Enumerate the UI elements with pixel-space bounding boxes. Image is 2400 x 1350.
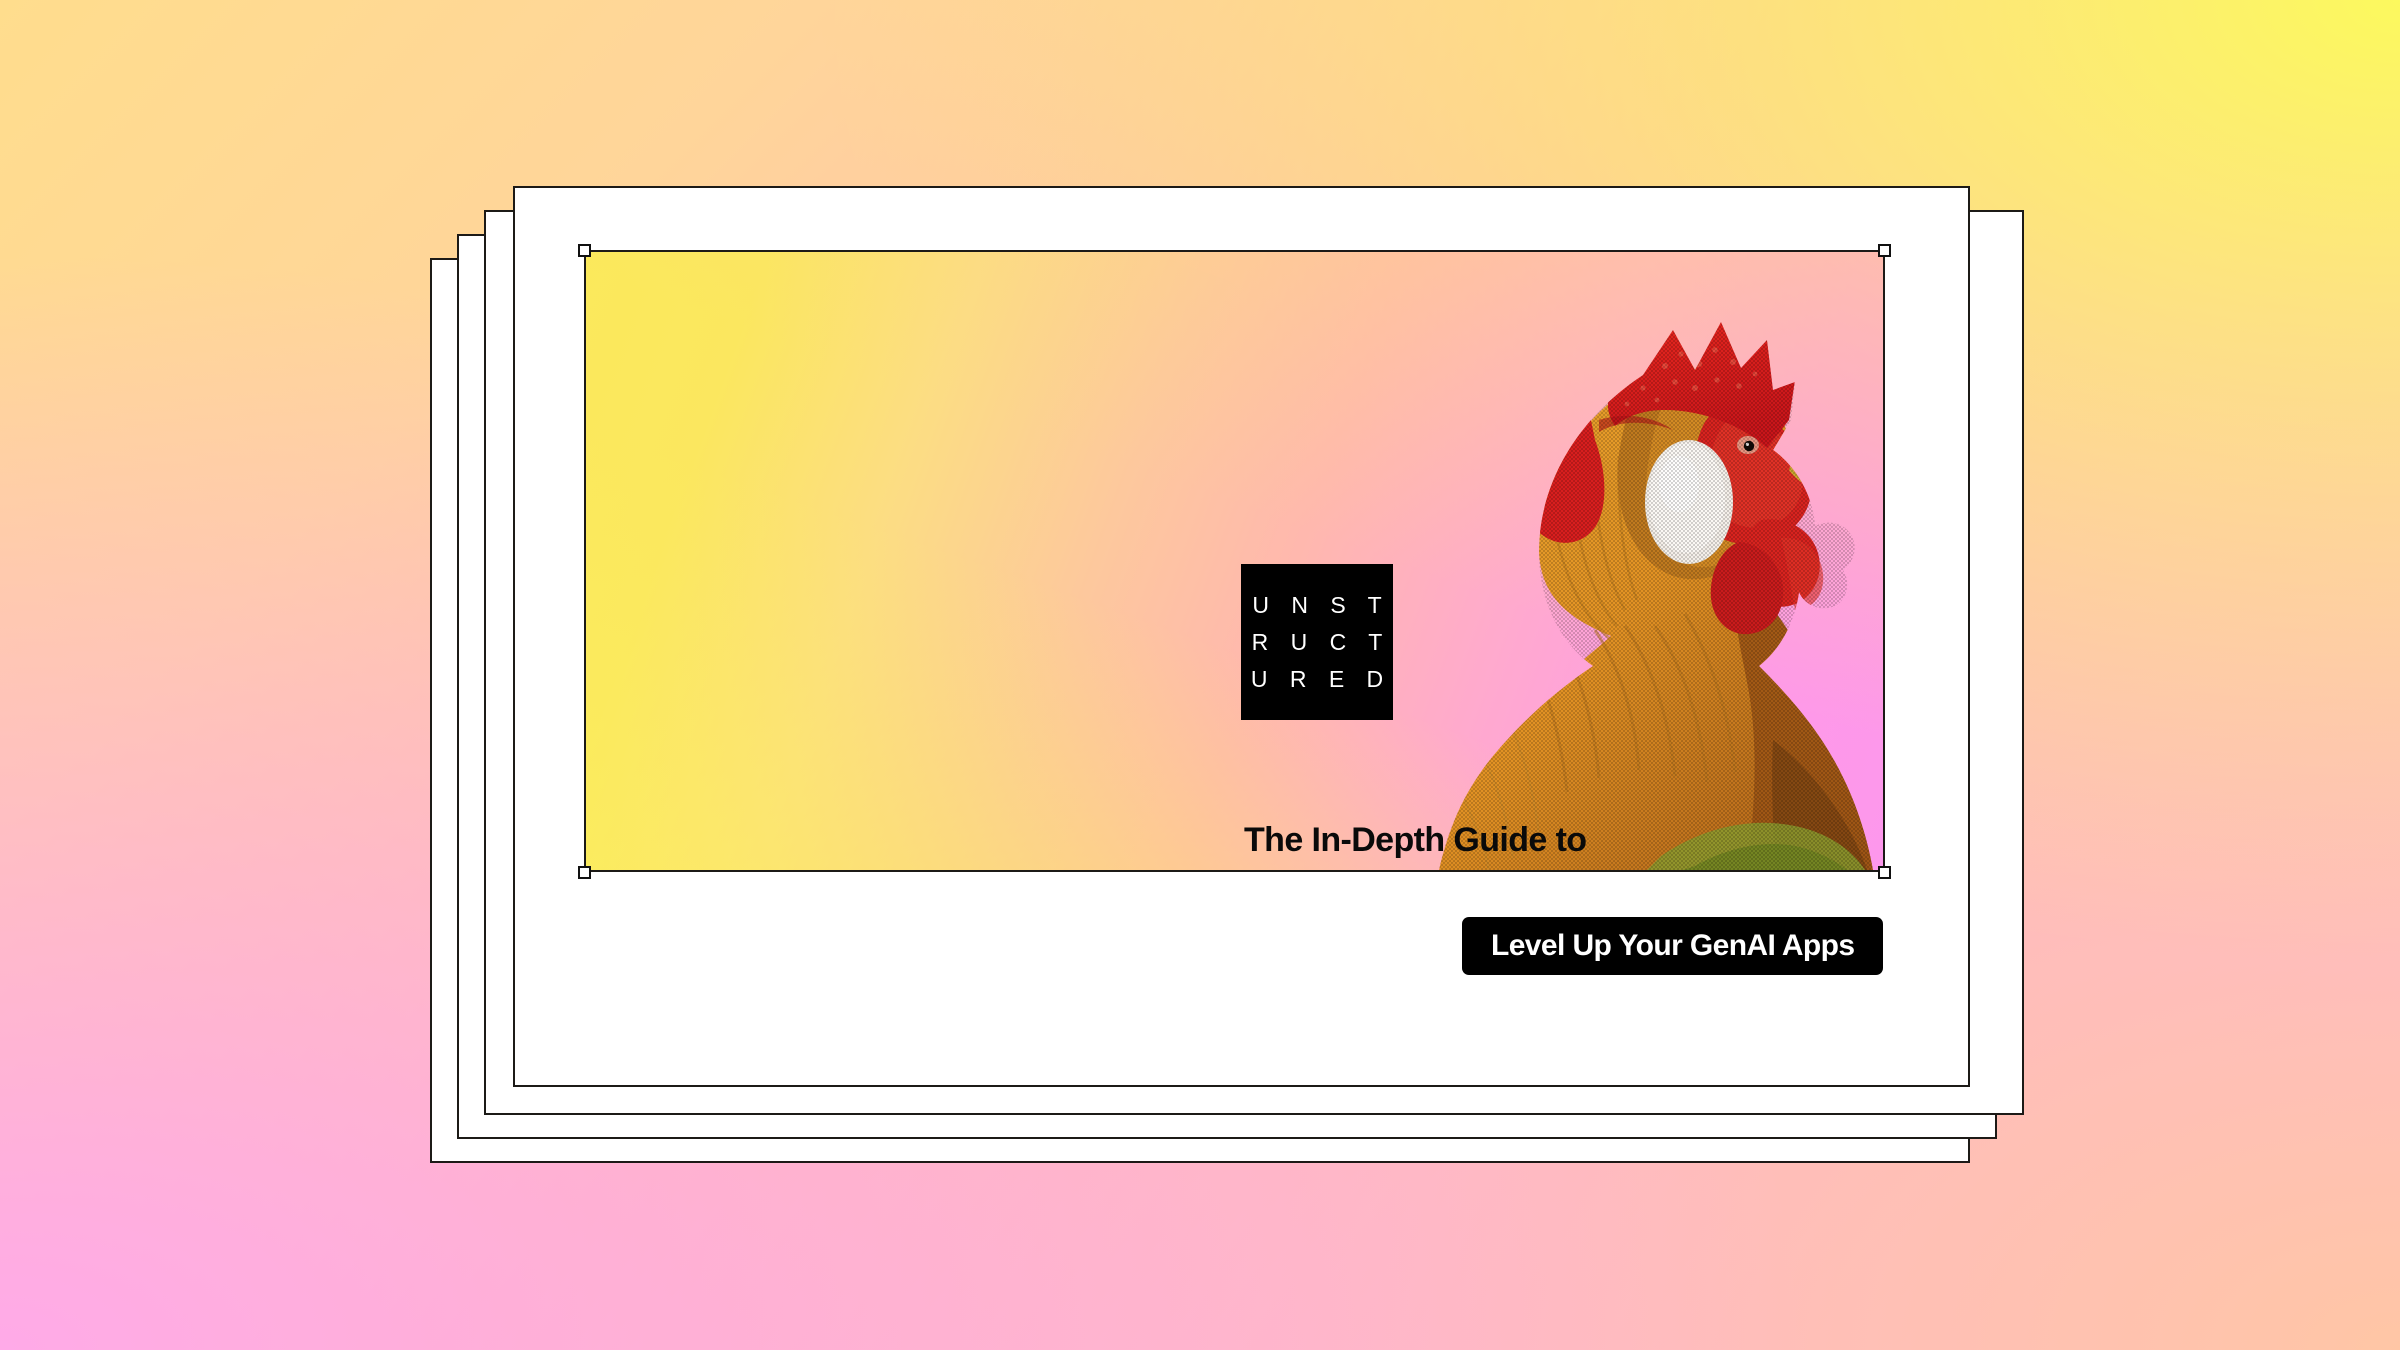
selection-handle-top-left[interactable] <box>578 244 591 257</box>
level-up-cta-button[interactable]: Level Up Your GenAI Apps <box>1462 917 1883 975</box>
headline-block: The In-Depth Guide to Advanced RAG Techn… <box>1244 822 1810 872</box>
selection-handle-top-right[interactable] <box>1878 244 1891 257</box>
logo-row-2: R U C T <box>1244 631 1391 654</box>
unstructured-logo: U N S T R U C T U R E D <box>1241 564 1393 720</box>
logo-row-3: U R E D <box>1243 668 1391 691</box>
selection-handle-bottom-left[interactable] <box>578 866 591 879</box>
banner-image[interactable]: U N S T R U C T U R E D The In-Depth Gui… <box>584 250 1885 872</box>
banner-gradient-overlay <box>586 252 1883 870</box>
rooster-illustration <box>1343 270 1883 870</box>
eyebrow-text: The In-Depth Guide to <box>1244 822 1810 859</box>
selection-handle-bottom-right[interactable] <box>1878 866 1891 879</box>
logo-row-1: U N S T <box>1244 594 1389 617</box>
